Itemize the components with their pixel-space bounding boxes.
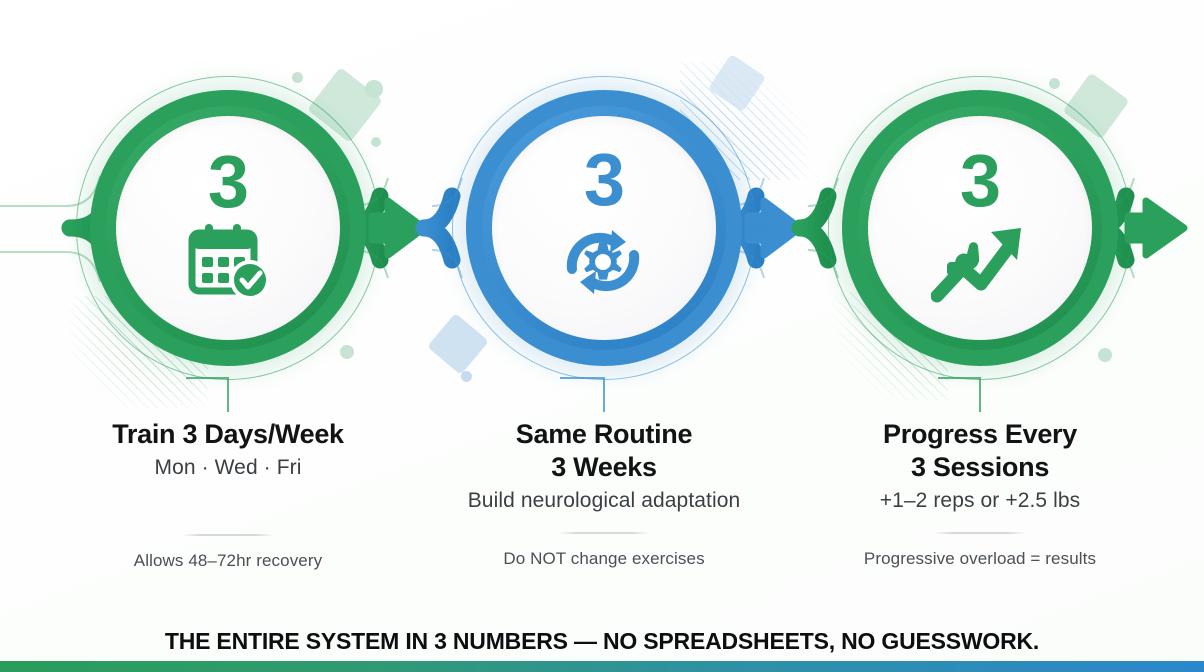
stem-connectors	[186, 378, 980, 412]
step-title-2: Same Routine 3 Weeks	[394, 418, 814, 484]
step-subtitle-3: +1–2 reps or +2.5 lbs	[770, 489, 1190, 513]
muscle-growth-arrow-icon	[931, 220, 1029, 309]
gear-refresh-icon	[558, 219, 650, 310]
step-title-1: Train 3 Days/Week	[18, 418, 438, 451]
step-subtitle-1: Mon · Wed · Fri	[18, 456, 438, 480]
step-number-1: 3	[208, 148, 248, 216]
step-number-2: 3	[584, 146, 624, 214]
step-title-3: Progress Every 3 Sessions	[770, 418, 1190, 484]
step-column-2: Same Routine 3 Weeks Build neurological …	[394, 418, 814, 569]
step-divider-1	[182, 534, 274, 536]
footer-banner-text: THE ENTIRE SYSTEM IN 3 NUMBERS — NO SPRE…	[0, 628, 1204, 655]
step-node-1[interactable]: 3	[76, 76, 380, 380]
infographic-canvas: 3	[0, 0, 1204, 672]
inner-disc-2: 3	[492, 116, 716, 340]
step-node-2[interactable]: 3	[452, 76, 756, 380]
step-subtitle-2: Build neurological adaptation	[394, 489, 814, 513]
step-note-3: Progressive overload = results	[770, 549, 1190, 569]
step-divider-3	[934, 532, 1026, 534]
calendar-check-icon	[184, 221, 272, 308]
step-divider-2	[558, 532, 650, 534]
step-node-3[interactable]: 3	[828, 76, 1132, 380]
step-column-3: Progress Every 3 Sessions +1–2 reps or +…	[770, 418, 1190, 569]
step-column-1: Train 3 Days/Week Mon · Wed · Fri Allows…	[18, 418, 438, 571]
step-note-2: Do NOT change exercises	[394, 549, 814, 569]
footer-gradient-bar	[0, 661, 1204, 672]
step-note-1: Allows 48–72hr recovery	[18, 551, 438, 571]
inner-disc-1: 3	[116, 116, 340, 340]
step-number-3: 3	[960, 147, 1000, 215]
inner-disc-3: 3	[868, 116, 1092, 340]
